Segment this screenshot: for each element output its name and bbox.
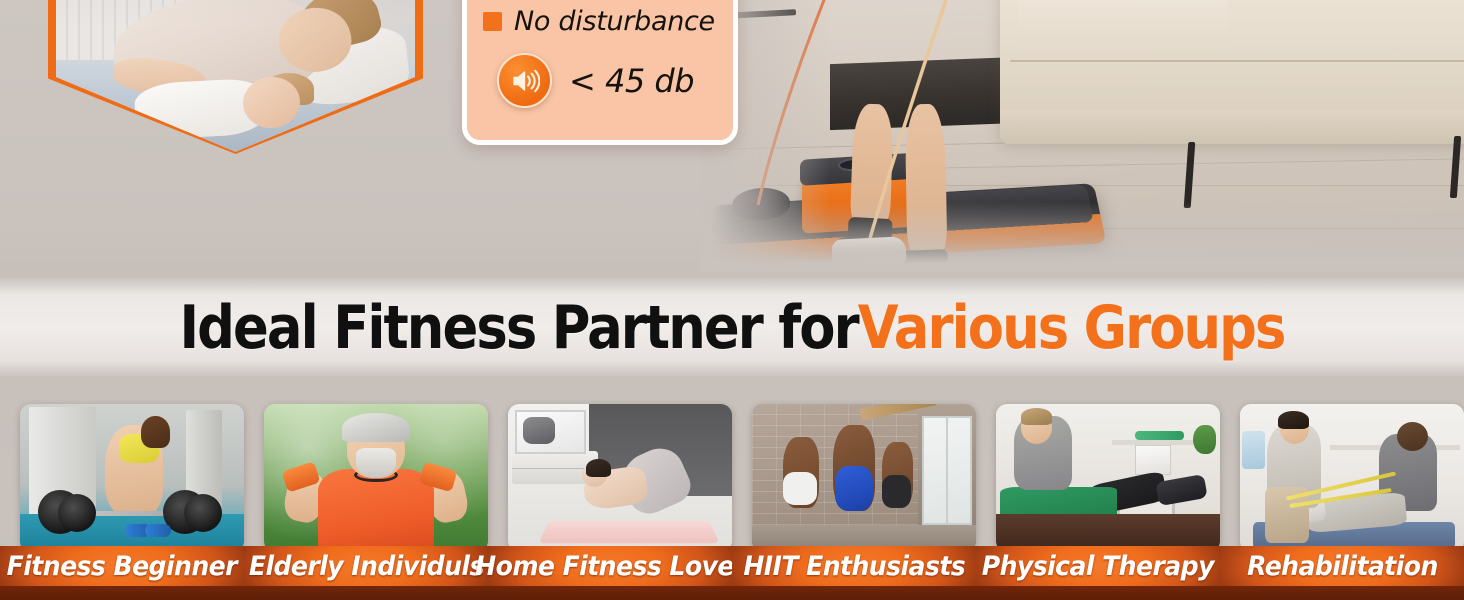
group-photo-home-fitness-lover[interactable] [508,404,732,552]
sofa-cushion [1018,0,1228,62]
headline-primary-text: Ideal Fitness Partner for [179,293,857,363]
clinic-scene [996,404,1220,552]
audience-caption-strip: Fitness Beginner Elderly Individuls Home… [0,546,1464,600]
barbell-plate [184,494,222,532]
callout-bullet-row: No disturbance [483,6,717,37]
therapist-hair [1021,408,1052,424]
group-photo-fitness-beginner[interactable] [20,404,244,552]
window [922,416,971,526]
product-marketing-banner: Low noise No disturbance < 45 db Ideal F… [0,0,1464,600]
speaker-volume-icon [497,53,552,108]
caption-label: Physical Therapy [982,551,1214,582]
living-room-scene [508,404,732,552]
page-title: Ideal Fitness Partner for Various Groups [88,282,1376,374]
photo-vignette [56,0,415,154]
caption-home-fitness-lover[interactable]: Home Fitness Lover [488,546,732,586]
caption-label: Fitness Beginner [7,551,237,582]
lifter-shoe [145,524,171,537]
group-photo-rehabilitation[interactable] [1240,404,1464,552]
elder-beard [356,448,396,478]
exerciser-hair [586,459,611,477]
athlete-shorts [783,472,817,505]
gym-scene [20,404,244,552]
group-photo-hiit-enthusiasts[interactable] [752,404,976,552]
group-photo-elderly-individuls[interactable] [264,404,488,552]
noise-level-row: < 45 db [497,53,717,108]
low-noise-callout-card: Low noise No disturbance < 45 db [462,0,738,145]
caption-label: Home Fitness Lover [475,551,745,582]
therapist-hair [1278,411,1309,429]
caption-rehabilitation[interactable]: Rehabilitation [1220,546,1464,586]
potted-plant [1193,425,1215,455]
loft-studio-scene [752,404,976,552]
caption-fitness-beginner[interactable]: Fitness Beginner [0,546,244,586]
yoga-mat [538,521,719,543]
outdoor-park-scene [264,404,488,552]
orange-square-bullet-icon [483,12,502,31]
headline-accent-text: Various Groups [858,293,1285,363]
storage-box [1135,445,1171,475]
elder-grey-hair [342,413,409,443]
athlete-leggings [882,475,911,508]
hero-product-photo [700,0,1464,272]
photo-bottom-fade [700,202,1464,272]
caption-label: Rehabilitation [1247,551,1438,582]
television [515,410,587,454]
treatment-table [996,514,1220,547]
green-exercise-band [1135,431,1184,440]
group-photo-physical-therapy[interactable] [996,404,1220,552]
sleeping-mother-baby-photo [56,0,415,154]
water-cooler [1242,431,1264,469]
callout-bullet-label: No disturbance [514,6,715,37]
caption-label: HIIT Enthusiasts [743,551,965,582]
sofa-seam [1010,60,1464,62]
caption-physical-therapy[interactable]: Physical Therapy [976,546,1220,586]
caption-label: Elderly Individuls [249,551,484,582]
tv-workout-figure [523,417,554,444]
caption-hiit-enthusiasts[interactable]: HIIT Enthusiasts [732,546,976,586]
sofa-skirt [1000,110,1464,144]
noise-level-value: < 45 db [569,62,694,100]
caption-elderly-individuls[interactable]: Elderly Individuls [244,546,488,586]
sleeping-photo-chevron [48,0,423,154]
lifter-hair [141,416,170,449]
athlete-leggings [835,466,873,510]
caption-strip-shadow [0,586,1464,600]
rehab-room-scene [1240,404,1464,552]
